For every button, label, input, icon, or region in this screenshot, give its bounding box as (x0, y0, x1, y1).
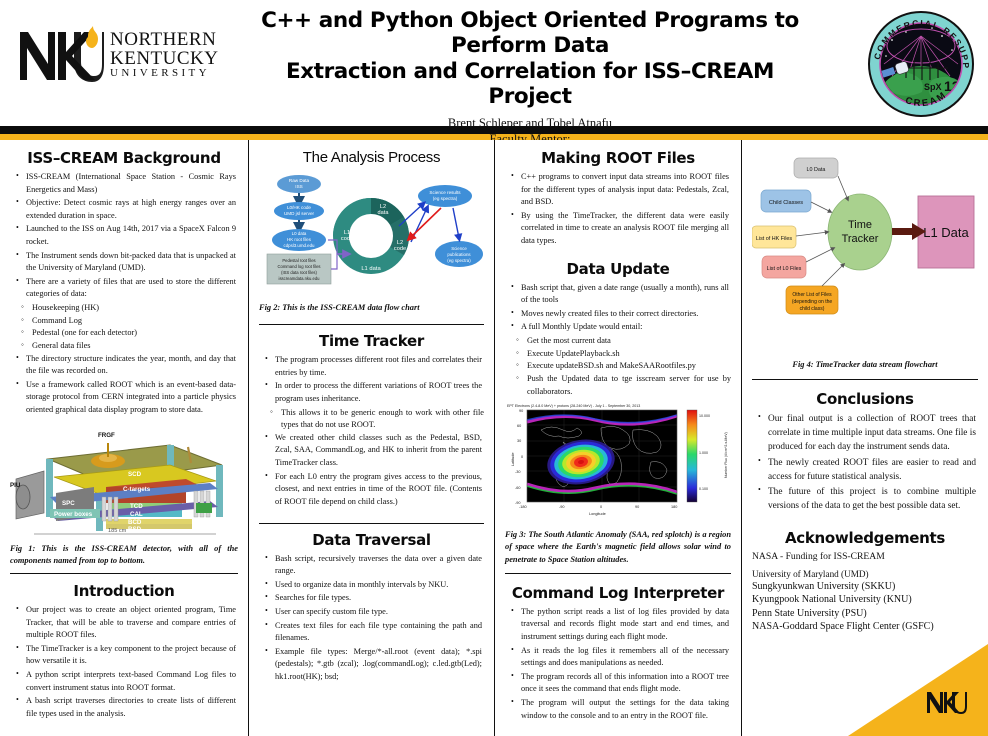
list-item: Our final output is a collection of ROOT… (756, 412, 976, 454)
time-tracker-bullets: The program processes different root fil… (263, 354, 482, 405)
divider (752, 379, 978, 380)
list-item: As it reads the log files it remembers a… (509, 645, 729, 670)
list-item: Launched to the ISS on Aug 14th, 2017 vi… (14, 223, 236, 248)
fig2-node-l0hk-code: L0/HK code (287, 205, 311, 210)
title-line-1: C++ and Python Object Oriented Programs … (261, 8, 799, 58)
list-item: Get the most current data (515, 335, 731, 348)
section-title-command-log-interpreter: Command Log Interpreter (505, 584, 731, 602)
fig1-label-cal: CAL (130, 511, 143, 518)
svg-text:child class): child class) (800, 306, 825, 312)
time-tracker-bullets-after: We created other child classes such as t… (263, 432, 482, 509)
list-item: The program records all of this informat… (509, 671, 729, 696)
svg-text:code: code (394, 246, 406, 252)
list-item: In order to process the different variat… (263, 380, 482, 405)
data-update-sub-bullets: Get the most current data Execute Update… (515, 335, 731, 398)
svg-text:publications: publications (447, 252, 471, 257)
fig1-label-scd: SCD (128, 471, 142, 478)
logo-line-university: UNIVERSITY (110, 68, 219, 79)
iss-cream-background-bullets-after: The directory structure indicates the ye… (14, 353, 236, 417)
crs-mission-patch-icon: SpX 12 COMMERCIAL RESUPPLY SERVICES CREA… (862, 6, 980, 122)
section-title-making-root-files: Making ROOT Files (505, 149, 731, 167)
svg-text:(eg spectra): (eg spectra) (433, 196, 458, 201)
poster-title: C++ and Python Object Oriented Programs … (250, 8, 810, 109)
fig3-xlabel: Longitude (589, 512, 606, 516)
list-item: The directory structure indicates the ye… (14, 353, 236, 378)
fig2-node-science-results: Science results (429, 190, 461, 195)
svg-text:(depending on the: (depending on the (792, 299, 833, 305)
list-item: Bash script that, given a date range (us… (509, 282, 729, 307)
conclusions-bullets: Our final output is a collection of ROOT… (756, 412, 976, 513)
figure-4-timetracker-flowchart: Time Tracker L0 Data Child Classes List … (752, 150, 978, 355)
divider (259, 523, 484, 524)
fig3-ytick-30: 30 (517, 439, 521, 443)
list-item: Objective: Detect cosmic rays at high en… (14, 197, 236, 222)
list-item: ISS-CREAM (International Space Station -… (14, 171, 236, 196)
list-item: Searches for file types. (263, 592, 482, 605)
acknowledgement-line: University of Maryland (UMD) (752, 568, 978, 580)
acknowledgement-line: Penn State University (PSU) (752, 607, 978, 620)
figure-3-caption: Fig 3: The South Atlantic Anomaly (SAA, … (505, 529, 731, 566)
fig1-label-dimension: 185 cm (108, 528, 127, 534)
authors: Brent Schleper and Tobel Atnafu (250, 116, 810, 131)
column-3: Making ROOT Files C++ programs to conver… (495, 140, 742, 736)
introduction-bullets: Our project was to create an object orie… (14, 604, 236, 720)
data-traversal-bullets: Bash script, recursively traverses the d… (263, 553, 482, 684)
logo-line-kentucky: KENTUCKY (110, 49, 219, 68)
divider (505, 573, 731, 574)
list-item: There are a variety of files that are us… (14, 276, 236, 301)
list-item: Execute updateBSD.sh and MakeSAARootfile… (515, 360, 731, 373)
list-item: Moves newly created files to their corre… (509, 308, 729, 321)
poster-root: NORTHERN KENTUCKY UNIVERSITY C++ and Pyt… (0, 0, 988, 736)
acknowledgement-line: NASA - Funding for ISS-CREAM (752, 551, 978, 564)
fig3-plot-title: EPT Electrons (2.4-8.0 MeV) + protons (2… (507, 404, 640, 408)
fig3-xtick-0: 0 (600, 505, 602, 509)
list-item: General data files (20, 340, 238, 353)
list-item: The newly created ROOT files are easier … (756, 456, 976, 484)
divider (259, 324, 484, 325)
list-item: We created other child classes such as t… (263, 432, 482, 470)
acknowledgement-line: Kyungpook National University (KNU) (752, 593, 978, 606)
fig3-ytick-m30: -30 (515, 470, 521, 474)
fig3-ylabel: Latitude (511, 453, 515, 467)
poster-content: ISS–CREAM Background ISS-CREAM (Internat… (0, 140, 988, 736)
list-item: The future of this project is to combine… (756, 485, 976, 513)
list-item: C++ programs to convert input data strea… (509, 171, 729, 209)
list-item: Bash script, recursively traverses the d… (263, 553, 482, 578)
fig1-label-power-boxes: Power boxes (54, 511, 93, 518)
list-item: Housekeeping (HK) (20, 302, 238, 315)
fig1-label-bsd: BSD (128, 526, 142, 533)
column-4: Time Tracker L0 Data Child Classes List … (742, 140, 988, 736)
list-item: By using the TimeTracker, the different … (509, 210, 729, 248)
nku-logo: NORTHERN KENTUCKY UNIVERSITY (18, 26, 219, 82)
section-title-data-update: Data Update (505, 260, 731, 278)
fig3-cbar-label: Number Flux (#/cm^2-s-MeV) (724, 432, 728, 478)
fig3-ytick-m60: -60 (515, 486, 521, 490)
column-1: ISS–CREAM Background ISS-CREAM (Internat… (0, 140, 249, 736)
list-item: A python script interprets text-based Co… (14, 669, 236, 694)
fig3-xtick-90: 90 (635, 505, 639, 509)
divider (10, 573, 238, 574)
fig4-node-l1-data: L1 Data (923, 225, 969, 240)
fig3-xtick-180: 180 (671, 505, 677, 509)
fig2-node-raw-data: Raw Data (289, 178, 310, 183)
fig1-label-bcd: BCD (128, 519, 142, 526)
list-item: For each L0 entry the program gives acce… (263, 471, 482, 509)
time-tracker-sub-bullets: This allows it to be generic enough to w… (269, 407, 484, 432)
section-title-time-tracker: Time Tracker (259, 332, 484, 350)
list-item: The TimeTracker is a key component to th… (14, 643, 236, 668)
svg-text:code: code (341, 236, 353, 242)
corner-nku-logo-icon (926, 689, 972, 720)
acknowledgement-line: Sungkyunkwan University (SKKU) (752, 580, 978, 593)
fig1-label-piu: PIU (10, 482, 21, 489)
section-title-analysis-process: The Analysis Process (259, 149, 484, 166)
figure-1-caption: Fig 1: This is the ISS-CREAM detector, w… (10, 543, 238, 567)
svg-text:UMD jsl server: UMD jsl server (284, 211, 315, 216)
nku-monogram-icon (18, 26, 104, 82)
making-root-files-bullets: C++ programs to convert input data strea… (509, 171, 729, 248)
fig3-xtick-m180: -180 (519, 505, 527, 509)
svg-text:data: data (378, 210, 390, 216)
section-title-introduction: Introduction (10, 582, 238, 600)
figure-2-dataflow: L1 code L2 data L2 code L1 data Raw Data… (259, 170, 484, 298)
fig2-node-pedestal-files: Pedestal root files (282, 258, 315, 263)
fig4-node-other-list-files: Other List of Files (792, 292, 832, 298)
fig3-cbar-tick-1: 1.000 (699, 451, 708, 455)
list-item: The program processes different root fil… (263, 354, 482, 379)
fig3-ytick-0: 0 (521, 455, 523, 459)
data-update-bullets: Bash script that, given a date range (us… (509, 282, 729, 334)
list-item: Push the Updated data to tge isscream se… (515, 373, 731, 398)
section-title-acknowledgements: Acknowledgements (752, 529, 978, 547)
list-item: Creates text files for each file type co… (263, 620, 482, 645)
list-item: A full Monthly Update would entail: (509, 321, 729, 334)
fig1-label-ctargets: C-targets (123, 486, 151, 493)
list-item: This allows it to be generic enough to w… (269, 407, 484, 432)
list-item: The Instrument sends down bit-packed dat… (14, 250, 236, 275)
fig4-node-time: Time (848, 219, 872, 231)
poster-header: NORTHERN KENTUCKY UNIVERSITY C++ and Pyt… (0, 0, 988, 126)
svg-text:HK root files: HK root files (287, 237, 312, 242)
fig2-node-science-publications: Science (451, 246, 467, 251)
iss-cream-background-sub-bullets: Housekeeping (HK) Command Log Pedestal (… (20, 302, 238, 352)
fig4-node-list-hk-files: List of HK Files (756, 236, 793, 242)
list-item: Example file types: Merge/*-all.root (ev… (263, 646, 482, 684)
list-item: Used to organize data in monthly interva… (263, 579, 482, 592)
fig3-cbar-tick-0: 10.000 (699, 414, 710, 418)
list-item: User can specify custom file type. (263, 606, 482, 619)
figure-3-saa-map: EPT Electrons (2.4-8.0 MeV) + protons (2… (505, 400, 731, 525)
fig2-node-l1-data: L1 data (361, 266, 381, 272)
list-item: Command Log (20, 315, 238, 328)
fig4-node-l0-data: L0 Data (807, 167, 826, 173)
fig2-node-l0-data: L0 data (292, 231, 307, 236)
list-item: The program will output the settings for… (509, 697, 729, 722)
fig1-label-frgf: FRGF (98, 432, 115, 439)
section-title-iss-cream-background: ISS–CREAM Background (10, 149, 238, 167)
patch-mission-label: SpX (924, 82, 942, 92)
list-item: A bash script traverses directories to c… (14, 695, 236, 720)
fig1-label-tcd: TCD (130, 503, 143, 510)
list-item: The python script reads a list of log fi… (509, 606, 729, 644)
svg-text:isscreamdata.nku.edu: isscreamdata.nku.edu (279, 276, 321, 281)
fig3-ytick-90: 90 (519, 409, 523, 413)
figure-4-caption: Fig 4: TimeTracker data stream flowchart (752, 359, 978, 371)
list-item: Use a framework called ROOT which is an … (14, 379, 236, 417)
logo-line-northern: NORTHERN (110, 30, 219, 49)
title-line-2: Extraction and Correlation for ISS–CREAM… (286, 59, 774, 109)
figure-2-caption: Fig 2: This is the ISS-CREAM data flow c… (259, 302, 484, 314)
fig1-label-spc: SPC (62, 500, 75, 507)
list-item: Our project was to create an object orie… (14, 604, 236, 642)
section-title-conclusions: Conclusions (752, 390, 978, 408)
fig3-ytick-60: 60 (517, 424, 521, 428)
command-log-interpreter-bullets: The python script reads a list of log fi… (509, 606, 729, 722)
fig4-node-tracker: Tracker (842, 233, 879, 245)
column-2: The Analysis Process L1 code L2 da (249, 140, 495, 736)
list-item: Execute UpdatePlayback.sh (515, 348, 731, 361)
svg-text:(eg spectra): (eg spectra) (447, 258, 471, 263)
fig4-node-list-l0-files: List of L0 Files (767, 266, 802, 272)
iss-cream-background-bullets: ISS-CREAM (International Space Station -… (14, 171, 236, 301)
svg-text:ISS: ISS (295, 184, 302, 189)
svg-text:(ISS data root files): (ISS data root files) (281, 270, 317, 275)
fig3-xtick-m90: -90 (559, 505, 565, 509)
fig3-cbar-tick-2: 0.100 (699, 487, 708, 491)
svg-text:cdpsl3.umd.edu: cdpsl3.umd.edu (284, 243, 316, 248)
section-title-data-traversal: Data Traversal (259, 531, 484, 549)
figure-1-detector: FRGF PIU SCD C-targets SPC TCD CAL BCD B… (10, 421, 238, 539)
fig4-node-child-classes: Child Classes (769, 200, 803, 206)
list-item: Pedestal (one for each detector) (20, 327, 238, 340)
acknowledgement-line: NASA-Goddard Space Flight Center (GSFC) (752, 620, 978, 633)
svg-text:Command log root files: Command log root files (277, 264, 320, 269)
